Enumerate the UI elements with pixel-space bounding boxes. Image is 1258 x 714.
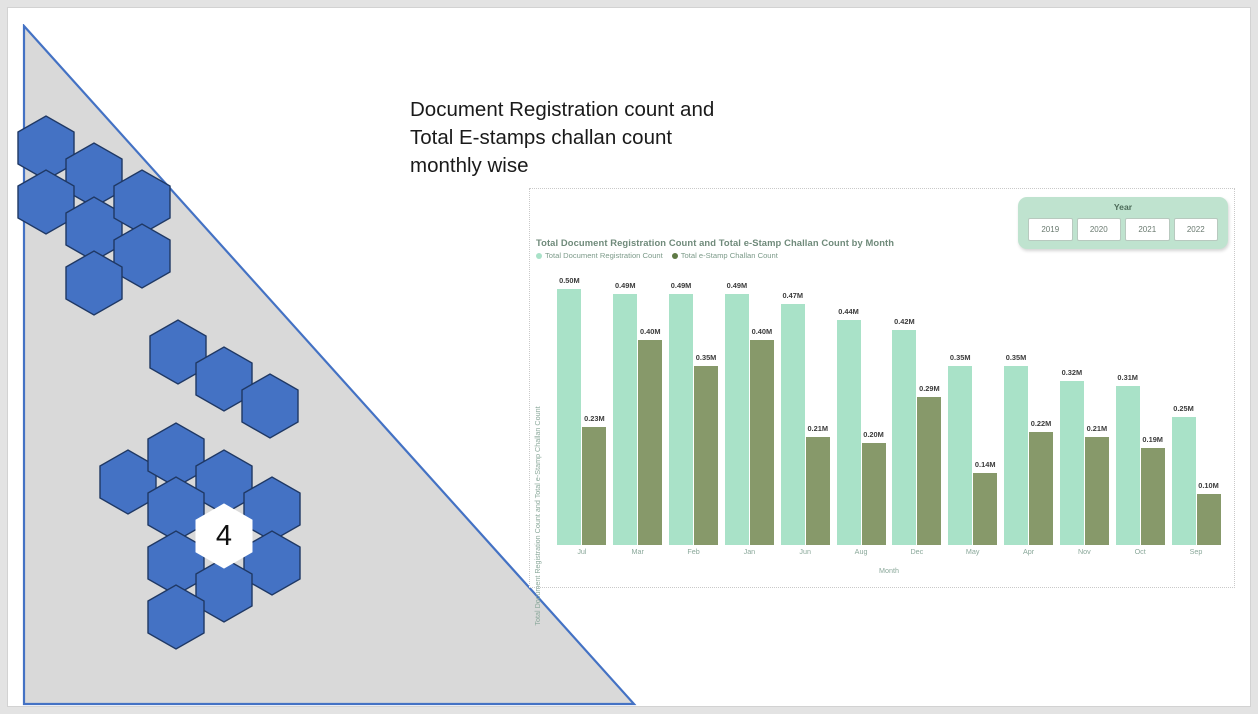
bar-value-label: 0.35M (694, 352, 719, 363)
x-axis-label-sep: Sep (1168, 547, 1224, 561)
bar-series1[interactable]: 0.35M (1004, 267, 1028, 545)
bar-rect[interactable] (638, 340, 662, 545)
bar-series1[interactable]: 0.32M (1060, 267, 1084, 545)
bar-value-label: 0.22M (1029, 418, 1054, 429)
bar-rect[interactable] (973, 473, 997, 545)
legend-label-series1: Total Document Registration Count (545, 251, 663, 260)
bar-series2[interactable]: 0.21M (806, 267, 830, 545)
x-axis-label-aug: Aug (833, 547, 889, 561)
bar-rect[interactable] (1060, 381, 1084, 545)
year-slicer-option-2022[interactable]: 2022 (1174, 218, 1219, 241)
slide-title: Document Registration count and Total E-… (410, 96, 840, 180)
bar-rect[interactable] (1197, 494, 1221, 545)
legend-item-series1[interactable]: Total Document Registration Count (536, 251, 663, 260)
bar-series1[interactable]: 0.42M (892, 267, 916, 545)
year-slicer-options: 2019202020212022 (1028, 218, 1218, 241)
bar-rect[interactable] (781, 304, 805, 545)
bar-series2[interactable]: 0.35M (694, 267, 718, 545)
x-axis-label-feb: Feb (666, 547, 722, 561)
bar-series1[interactable]: 0.49M (725, 267, 749, 545)
year-slicer-title: Year (1018, 202, 1228, 212)
bar-group: 0.50M0.23M (554, 267, 610, 545)
bar-value-label: 0.29M (917, 383, 942, 394)
x-axis-label-may: May (945, 547, 1001, 561)
bar-value-label: 0.47M (780, 290, 805, 301)
bar-rect[interactable] (669, 294, 693, 545)
legend-label-series2: Total e-Stamp Challan Count (681, 251, 778, 260)
bar-rect[interactable] (1085, 437, 1109, 545)
bar-rect[interactable] (1116, 386, 1140, 545)
legend-item-series2[interactable]: Total e-Stamp Challan Count (672, 251, 778, 260)
bar-value-label: 0.21M (805, 423, 830, 434)
bar-series1[interactable]: 0.44M (837, 267, 861, 545)
bar-series2[interactable]: 0.21M (1085, 267, 1109, 545)
bar-series2[interactable]: 0.19M (1141, 267, 1165, 545)
x-axis-label-jan: Jan (721, 547, 777, 561)
bar-series1[interactable]: 0.35M (948, 267, 972, 545)
bar-value-label: 0.49M (613, 280, 638, 291)
bar-series2[interactable]: 0.20M (862, 267, 886, 545)
bar-rect[interactable] (725, 294, 749, 545)
bar-group: 0.49M0.40M (721, 267, 777, 545)
bar-series2[interactable]: 0.23M (582, 267, 606, 545)
bar-rect[interactable] (613, 294, 637, 545)
bar-value-label: 0.20M (861, 429, 886, 440)
bar-value-label: 0.32M (1060, 367, 1085, 378)
chart-plot-area: 0.50M0.23M0.49M0.40M0.49M0.35M0.49M0.40M… (554, 267, 1224, 567)
bar-value-label: 0.40M (750, 326, 775, 337)
bar-value-label: 0.25M (1171, 403, 1196, 414)
bar-group: 0.42M0.29M (889, 267, 945, 545)
bar-series2[interactable]: 0.14M (973, 267, 997, 545)
bar-group: 0.35M0.22M (1001, 267, 1057, 545)
x-axis-label-apr: Apr (1001, 547, 1057, 561)
bar-series1[interactable]: 0.49M (613, 267, 637, 545)
bar-rect[interactable] (806, 437, 830, 545)
year-slicer[interactable]: Year 2019202020212022 (1018, 197, 1228, 249)
bar-value-label: 0.40M (638, 326, 663, 337)
bar-rect[interactable] (948, 366, 972, 545)
bar-value-label: 0.35M (1004, 352, 1029, 363)
bar-value-label: 0.50M (557, 275, 582, 286)
x-axis-title: Month (554, 566, 1224, 575)
bar-value-label: 0.10M (1196, 480, 1221, 491)
bar-group: 0.35M0.14M (945, 267, 1001, 545)
bar-group: 0.31M0.19M (1112, 267, 1168, 545)
year-slicer-option-2019[interactable]: 2019 (1028, 218, 1073, 241)
chart-legend: Total Document Registration Count Total … (536, 251, 778, 260)
bar-series2[interactable]: 0.40M (750, 267, 774, 545)
bar-series2[interactable]: 0.10M (1197, 267, 1221, 545)
bar-value-label: 0.23M (582, 413, 607, 424)
chart-title: Total Document Registration Count and To… (536, 237, 894, 248)
screenshot-root: 4 Document Registration count and Total … (0, 0, 1258, 714)
bar-group: 0.49M0.35M (666, 267, 722, 545)
x-axis-label-oct: Oct (1112, 547, 1168, 561)
year-slicer-option-2021[interactable]: 2021 (1125, 218, 1170, 241)
bar-rect[interactable] (750, 340, 774, 545)
bar-group: 0.25M0.10M (1168, 267, 1224, 545)
bar-rect[interactable] (1172, 417, 1196, 545)
bar-series1[interactable]: 0.49M (669, 267, 693, 545)
x-axis-label-mar: Mar (610, 547, 666, 561)
bar-value-label: 0.31M (1115, 372, 1140, 383)
bar-value-label: 0.49M (725, 280, 750, 291)
bar-series1[interactable]: 0.47M (781, 267, 805, 545)
bar-value-label: 0.44M (836, 306, 861, 317)
legend-swatch-series1 (536, 253, 542, 259)
bar-value-label: 0.49M (669, 280, 694, 291)
bar-series1[interactable]: 0.25M (1172, 267, 1196, 545)
bar-groups: 0.50M0.23M0.49M0.40M0.49M0.35M0.49M0.40M… (554, 267, 1224, 545)
bar-rect[interactable] (557, 289, 581, 545)
x-axis-label-jun: Jun (777, 547, 833, 561)
bar-rect[interactable] (582, 427, 606, 545)
x-axis-label-jul: Jul (554, 547, 610, 561)
x-axis-label-nov: Nov (1056, 547, 1112, 561)
bar-value-label: 0.14M (973, 459, 998, 470)
bar-rect[interactable] (892, 330, 916, 545)
powerbi-visual-panel: Total Document Registration Count and To… (529, 188, 1235, 588)
bar-value-label: 0.42M (892, 316, 917, 327)
bar-series1[interactable]: 0.50M (557, 267, 581, 545)
bar-value-label: 0.35M (948, 352, 973, 363)
presentation-slide: 4 Document Registration count and Total … (8, 8, 1250, 706)
bar-series1[interactable]: 0.31M (1116, 267, 1140, 545)
bar-rect[interactable] (1029, 432, 1053, 545)
bar-rect[interactable] (1004, 366, 1028, 545)
legend-swatch-series2 (672, 253, 678, 259)
bar-group: 0.49M0.40M (610, 267, 666, 545)
bar-rect[interactable] (694, 366, 718, 545)
bar-group: 0.47M0.21M (777, 267, 833, 545)
bar-rect[interactable] (1141, 448, 1165, 545)
x-axis-labels: JulMarFebJanJunAugDecMayAprNovOctSep (554, 547, 1224, 561)
year-slicer-option-2020[interactable]: 2020 (1077, 218, 1122, 241)
bar-rect[interactable] (862, 443, 886, 545)
bar-rect[interactable] (837, 320, 861, 545)
bar-series2[interactable]: 0.40M (638, 267, 662, 545)
x-axis-label-dec: Dec (889, 547, 945, 561)
bar-group: 0.44M0.20M (833, 267, 889, 545)
y-axis-title: Total Document Registration Count and To… (532, 371, 544, 661)
bar-value-label: 0.21M (1085, 423, 1110, 434)
bar-value-label: 0.19M (1140, 434, 1165, 445)
bar-group: 0.32M0.21M (1056, 267, 1112, 545)
bar-series2[interactable]: 0.29M (917, 267, 941, 545)
bar-rect[interactable] (917, 397, 941, 545)
bar-series2[interactable]: 0.22M (1029, 267, 1053, 545)
